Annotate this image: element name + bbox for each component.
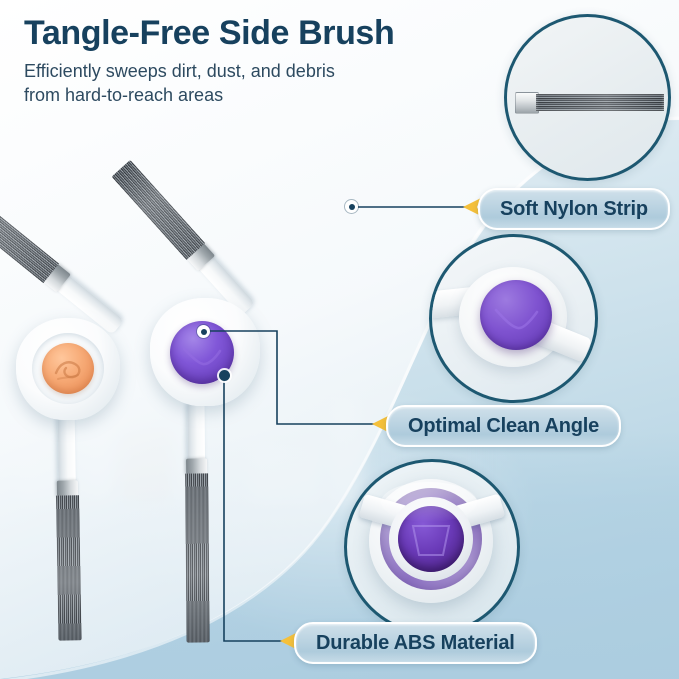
strip-bristles <box>536 94 664 111</box>
inset-hub-cap <box>480 280 552 350</box>
inset-clean-angle-closeup <box>429 234 598 403</box>
arm-stem <box>188 400 206 462</box>
callout-durable-abs-material[interactable]: Durable ABS Material <box>294 622 537 664</box>
marker-soft-nylon-strip[interactable] <box>345 200 358 213</box>
callout-label: Soft Nylon Strip <box>500 198 648 221</box>
nylon-strip-graphic <box>515 89 667 115</box>
brush-left-hub-cap <box>42 343 94 394</box>
header-block: Tangle-Free Side Brush Efficiently sweep… <box>24 14 494 107</box>
inset-abs-hub-closeup <box>344 459 520 635</box>
brush-right-lower-arm <box>188 400 207 642</box>
infographic-canvas: Tangle-Free Side Brush Efficiently sweep… <box>0 0 679 679</box>
subtitle-line-2: from hard-to-reach areas <box>24 85 223 105</box>
arm-ferrule <box>57 480 78 496</box>
arm-bristles <box>185 473 209 642</box>
page-title: Tangle-Free Side Brush <box>24 14 494 52</box>
marker-optimal-clean-angle[interactable] <box>197 325 210 338</box>
arm-ferrule <box>186 458 207 474</box>
arm-bristles <box>56 495 82 640</box>
marker-durable-abs-material[interactable] <box>219 370 230 381</box>
callout-optimal-clean-angle[interactable]: Optimal Clean Angle <box>386 405 621 447</box>
subtitle-line-1: Efficiently sweeps dirt, dust, and debri… <box>24 61 335 81</box>
inset-nylon-strip-closeup <box>504 14 671 181</box>
inset-hub-core <box>398 506 464 572</box>
callout-label: Optimal Clean Angle <box>408 415 599 438</box>
page-subtitle: Efficiently sweeps dirt, dust, and debri… <box>24 59 494 107</box>
callout-label: Durable ABS Material <box>316 632 515 655</box>
callout-soft-nylon-strip[interactable]: Soft Nylon Strip <box>478 188 670 230</box>
